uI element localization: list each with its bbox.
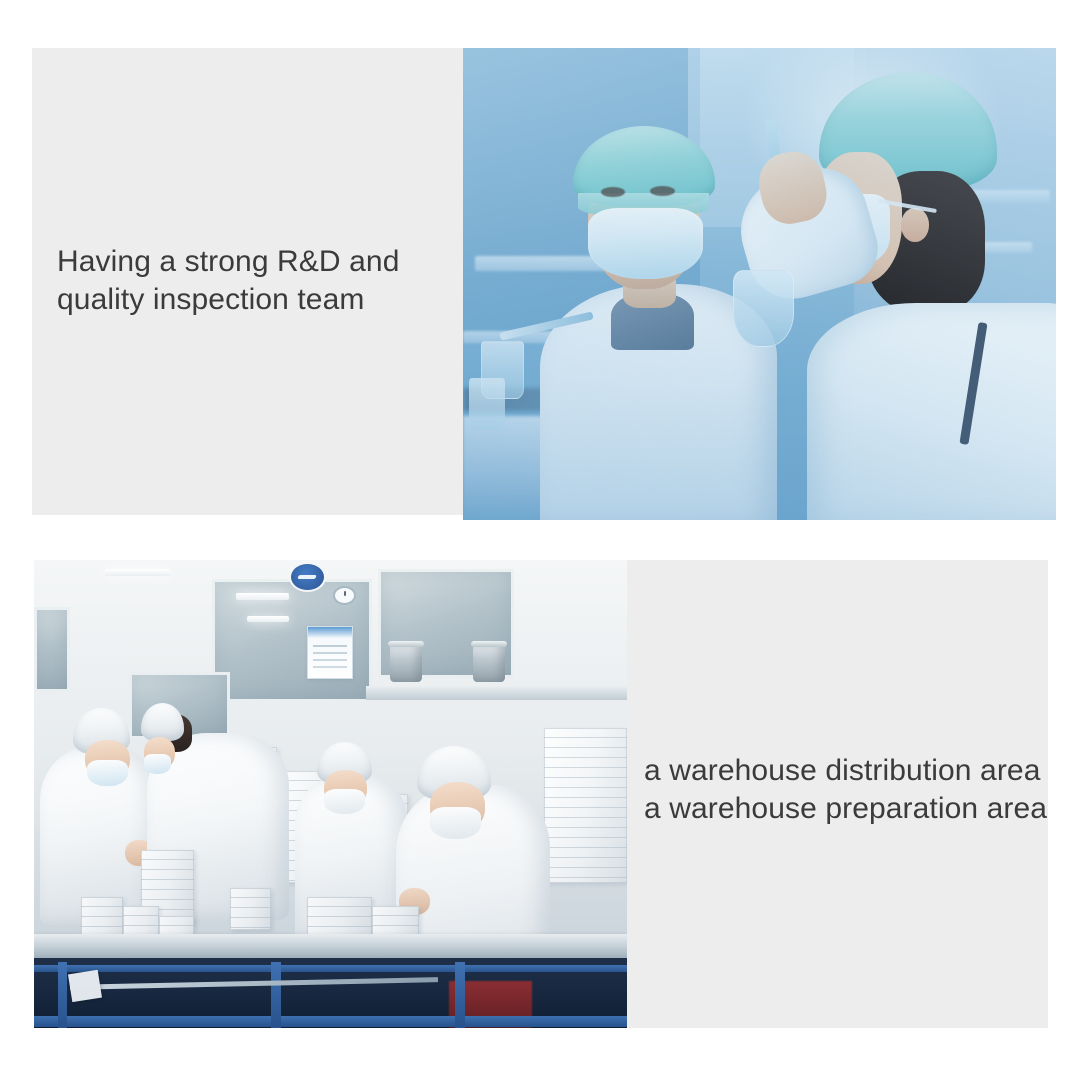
ceiling-light: [105, 569, 170, 576]
table-leg: [271, 962, 280, 1028]
wall-sign-icon: [289, 562, 326, 592]
wall-clock-icon: [333, 586, 356, 605]
stainless-container: [473, 644, 506, 681]
paper-sheet: [68, 970, 102, 1002]
worker-face-mask: [324, 789, 365, 814]
worker-left-face-mask: [588, 208, 704, 279]
glass-beaker: [733, 270, 794, 348]
worker-right-ear: [901, 208, 928, 241]
stainless-work-table: [34, 934, 627, 960]
warehouse-photo: [34, 560, 627, 1028]
ceiling-light: [247, 616, 289, 622]
glassware-small: [469, 378, 505, 430]
worker-face-mask: [430, 807, 481, 838]
worker-right-lab-coat: [807, 303, 1056, 520]
table-leg: [58, 962, 67, 1028]
laboratory-photo: [463, 48, 1056, 520]
table-frame-rail: [34, 1016, 627, 1026]
worker-left-eye: [650, 186, 675, 196]
bottom-caption-line-2: a warehouse preparation area: [644, 790, 1047, 828]
bottom-caption: a warehouse distribution area a warehous…: [644, 752, 1047, 829]
lab-background: [463, 48, 1056, 520]
back-counter: [366, 686, 627, 700]
warehouse-window: [34, 607, 70, 693]
box-stack: [544, 728, 627, 882]
worker-left-eye: [601, 187, 626, 197]
wall-notice-board: [307, 626, 353, 679]
table-frame-rail: [34, 965, 627, 972]
top-caption-line-2: quality inspection team: [57, 281, 399, 319]
bottom-caption-line-1: a warehouse distribution area: [644, 752, 1047, 790]
worker-face-mask: [144, 754, 171, 775]
worker-face-mask: [87, 760, 127, 787]
warehouse-background: [34, 560, 627, 1028]
box-stack: [230, 888, 272, 930]
stainless-container: [390, 644, 423, 681]
top-caption-line-1: Having a strong R&D and: [57, 243, 399, 281]
table-leg: [455, 962, 464, 1028]
ceiling-light: [236, 593, 289, 600]
top-caption: Having a strong R&D and quality inspecti…: [57, 243, 399, 320]
